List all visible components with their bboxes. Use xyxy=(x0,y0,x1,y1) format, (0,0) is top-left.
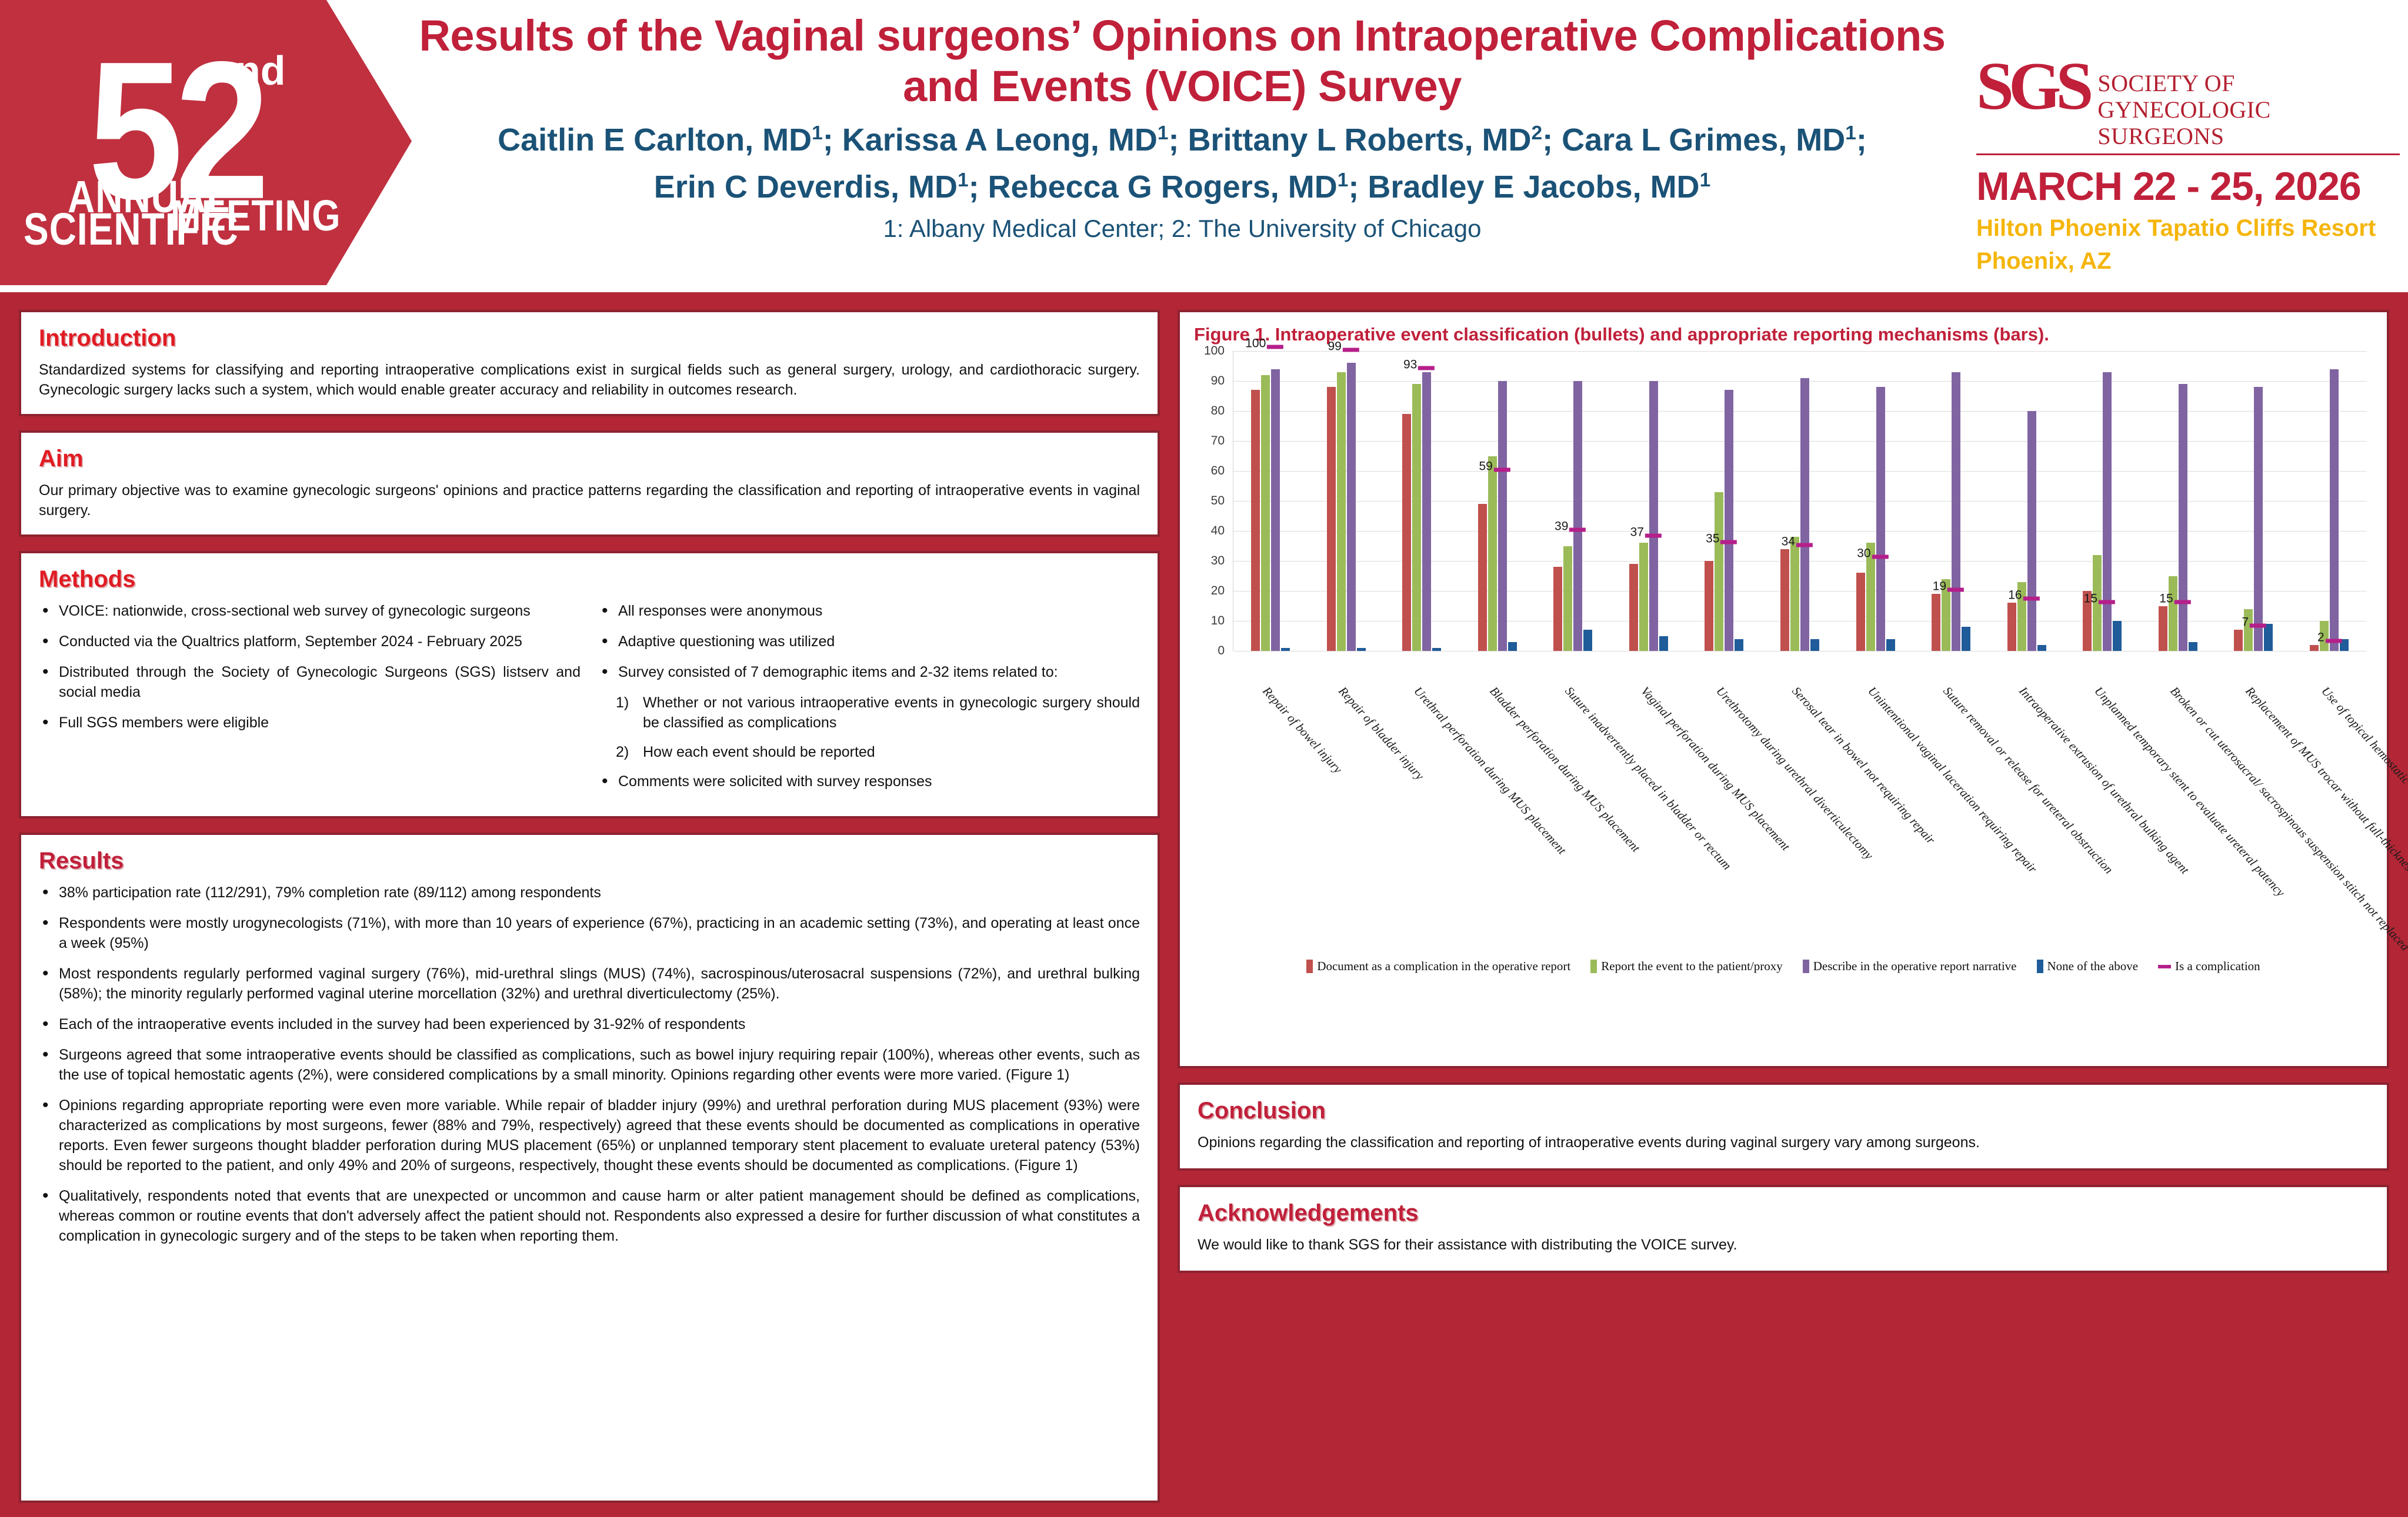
legend-swatch xyxy=(2158,965,2171,968)
list-item: 38% participation rate (112/291), 79% co… xyxy=(39,883,1140,903)
bullet-value-label: 30 xyxy=(1857,547,1870,561)
results-panel: Results 38% participation rate (112/291)… xyxy=(19,833,1160,1503)
x-axis-tick-label: Use of topical hemostatic agents xyxy=(2318,684,2408,813)
conclusion-panel: Conclusion Opinions regarding the classi… xyxy=(1178,1082,2389,1171)
list-item: Comments were solicited with survey resp… xyxy=(598,771,1140,791)
x-axis-tick: Bladder perforation during MUS placement xyxy=(1460,680,1536,957)
sgs-society-name: SOCIETY OF GYNECOLOGIC SURGEONS xyxy=(2097,56,2400,150)
bullet-value-label: 15 xyxy=(2084,592,2097,606)
bar-3 xyxy=(1962,627,1970,651)
legend-label: Describe in the operative report narrati… xyxy=(1813,959,2017,974)
bar-3 xyxy=(2113,621,2122,651)
bar-1 xyxy=(1563,546,1572,651)
bar-groups: 10099935939373534301916151572 xyxy=(1233,351,2367,651)
badge-meeting-text: MEETING xyxy=(171,191,341,241)
bar-group: 2 xyxy=(2291,351,2367,651)
bar-1 xyxy=(2169,576,2177,651)
poster-header: 52 nd ANNUAL SCIENTIFIC MEETING Results … xyxy=(0,0,2408,292)
affiliations: 1: Albany Medical Center; 2: The Univers… xyxy=(412,215,1953,243)
y-axis: 0102030405060708090100 xyxy=(1194,351,1229,651)
sgs-name-line-1: SOCIETY OF xyxy=(2097,70,2400,96)
bar-1 xyxy=(1337,372,1346,651)
bar-2 xyxy=(1649,381,1658,651)
right-column: Figure 1. Intraoperative event classific… xyxy=(1178,310,2389,1287)
aim-panel: Aim Our primary objective was to examine… xyxy=(19,430,1160,537)
bullet-value-label: 2 xyxy=(2317,630,2324,644)
list-item: VOICE: nationwide, cross-sectional web s… xyxy=(39,601,581,621)
list-item: Opinions regarding appropriate reporting… xyxy=(39,1095,1140,1175)
bar-2 xyxy=(1573,381,1582,651)
bullet-marker xyxy=(1645,534,1662,538)
legend-label: Report the event to the patient/proxy xyxy=(1601,959,1783,974)
bar-0 xyxy=(1553,567,1562,651)
x-axis-tick: Intraoperative extrusion of urethral bul… xyxy=(1989,680,2065,957)
legend-label: Document as a complication in the operat… xyxy=(1317,959,1570,974)
figure-1-title: Figure 1. Intraoperative event classific… xyxy=(1194,324,2373,345)
list-item: Adaptive questioning was utilized xyxy=(598,631,1140,651)
bar-3 xyxy=(1432,648,1441,651)
aim-title: Aim xyxy=(39,446,1140,472)
bullet-marker xyxy=(2174,600,2190,604)
y-axis-tick: 30 xyxy=(1211,554,1225,568)
legend-item: Report the event to the patient/proxy xyxy=(1590,959,1783,974)
bullet-marker xyxy=(2099,600,2115,604)
results-title: Results xyxy=(39,848,1140,874)
bullet-value-label: 34 xyxy=(1782,534,1795,549)
x-axis-labels: Repair of bowel injuryRepair of bladder … xyxy=(1233,680,2367,957)
bullet-marker xyxy=(2250,624,2266,628)
y-axis-tick: 100 xyxy=(1204,344,1225,358)
bar-0 xyxy=(2310,645,2319,651)
results-list: 38% participation rate (112/291), 79% co… xyxy=(39,883,1140,1246)
y-axis-tick: 80 xyxy=(1211,404,1225,418)
conclusion-title: Conclusion xyxy=(1198,1098,2369,1124)
acknowledgements-title: Acknowledgements xyxy=(1198,1200,2369,1227)
y-axis-tick: 90 xyxy=(1211,374,1225,388)
bar-0 xyxy=(2007,603,2016,651)
bar-group: 19 xyxy=(1913,351,1989,651)
legend-item: Describe in the operative report narrati… xyxy=(1803,959,2017,974)
conclusion-text: Opinions regarding the classification an… xyxy=(1198,1132,2369,1152)
methods-panel: Methods VOICE: nationwide, cross-section… xyxy=(19,551,1160,818)
bullet-value-label: 15 xyxy=(2159,592,2173,606)
bar-group: 30 xyxy=(1837,351,1913,651)
bar-0 xyxy=(2234,630,2243,651)
bar-group: 34 xyxy=(1762,351,1838,651)
bar-group: 59 xyxy=(1460,351,1536,651)
list-item: Each of the intraoperative events includ… xyxy=(39,1014,1140,1034)
methods-numbered-list: 1) Whether or not various intraoperative… xyxy=(616,693,1140,762)
x-axis-tick: Broken or cut uterosacral/ sacrospinous … xyxy=(2140,680,2216,957)
legend-item: Is a complication xyxy=(2158,959,2260,974)
list-item: Most respondents regularly performed vag… xyxy=(39,964,1140,1004)
methods-right-list-2: Comments were solicited with survey resp… xyxy=(598,771,1140,791)
list-item: Respondents were mostly urogynecologists… xyxy=(39,913,1140,953)
bar-2 xyxy=(2179,384,2187,651)
list-number: 2) xyxy=(616,742,629,762)
chart-plot-area: 0102030405060708090100 10099935939373534… xyxy=(1233,351,2367,680)
legend-swatch xyxy=(1306,960,1313,973)
sgs-logo: SGS xyxy=(1976,56,2088,117)
y-axis-tick: 20 xyxy=(1211,584,1225,598)
bar-1 xyxy=(1488,456,1497,651)
legend-swatch xyxy=(2037,960,2043,973)
bar-group: 7 xyxy=(2216,351,2292,651)
bullet-value-label: 37 xyxy=(1630,526,1644,540)
bar-3 xyxy=(2037,645,2046,651)
bar-3 xyxy=(1810,639,1819,651)
list-item: 1) Whether or not various intraoperative… xyxy=(616,693,1140,733)
bar-3 xyxy=(1508,642,1517,651)
left-column: Introduction Standardized systems for cl… xyxy=(19,310,1160,1517)
list-item: Survey consisted of 7 demographic items … xyxy=(598,662,1140,682)
introduction-text: Standardized systems for classifying and… xyxy=(39,360,1140,400)
bar-2 xyxy=(1498,381,1507,651)
acknowledgements-text: We would like to thank SGS for their ass… xyxy=(1198,1235,2369,1255)
methods-right-list: All responses were anonymous Adaptive qu… xyxy=(598,601,1140,682)
bar-2 xyxy=(1271,369,1280,651)
legend-label: Is a complication xyxy=(2175,959,2260,974)
bar-0 xyxy=(1629,564,1638,651)
y-axis-tick: 60 xyxy=(1211,464,1225,478)
x-axis-tick: Suture removal or release for ureteral o… xyxy=(1913,680,1989,957)
bar-group: 35 xyxy=(1686,351,1762,651)
bullet-value-label: 35 xyxy=(1706,532,1719,546)
list-item-text: How each event should be reported xyxy=(643,744,875,760)
bullet-marker xyxy=(1720,540,1737,544)
y-axis-tick: 10 xyxy=(1211,614,1225,628)
bar-2 xyxy=(2103,372,2112,651)
x-axis-tick: Vaginal perforation during MUS placement xyxy=(1611,680,1687,957)
sgs-branding: SGS SOCIETY OF GYNECOLOGIC SURGEONS MARC… xyxy=(1976,56,2400,275)
gridline xyxy=(1233,651,2367,651)
bar-0 xyxy=(2159,606,2167,651)
meeting-dates: MARCH 22 - 25, 2026 xyxy=(1976,163,2400,209)
methods-left-list: VOICE: nationwide, cross-sectional web s… xyxy=(39,601,581,733)
x-axis-tick: Replacement of MUS trocar without full-t… xyxy=(2216,680,2292,957)
legend-swatch xyxy=(1590,960,1597,973)
page-title: Results of the Vaginal surgeons’ Opinion… xyxy=(412,11,1953,112)
bar-2 xyxy=(1952,372,1960,651)
chart-legend: Document as a complication in the operat… xyxy=(1194,959,2373,974)
list-item: Qualitatively, respondents noted that ev… xyxy=(39,1186,1140,1246)
bar-3 xyxy=(1583,630,1592,651)
bar-2 xyxy=(2254,387,2263,651)
bar-1 xyxy=(1412,384,1421,651)
bar-2 xyxy=(1347,363,1356,651)
bar-2 xyxy=(1725,390,1733,651)
bar-1 xyxy=(1715,492,1723,651)
bar-group: 39 xyxy=(1535,351,1611,651)
x-axis-tick: Unplanned temporary stent to evaluate ur… xyxy=(2065,680,2140,957)
bar-0 xyxy=(1780,549,1789,651)
bar-3 xyxy=(2189,642,2197,651)
list-item: Full SGS members were eligible xyxy=(39,713,581,733)
bullet-value-label: 16 xyxy=(2008,589,2022,603)
bullet-marker xyxy=(1569,528,1586,532)
bar-3 xyxy=(1357,648,1366,651)
introduction-panel: Introduction Standardized systems for cl… xyxy=(19,310,1160,416)
bar-3 xyxy=(1735,639,1743,651)
list-item: All responses were anonymous xyxy=(598,601,1140,621)
bullet-value-label: 59 xyxy=(1479,460,1493,474)
methods-title: Methods xyxy=(39,566,1140,593)
title-block: Results of the Vaginal surgeons’ Opinion… xyxy=(412,11,1953,243)
x-axis-tick: Unintentional vaginal laceration requiri… xyxy=(1837,680,1913,957)
bullet-marker xyxy=(1947,588,1964,592)
bullet-value-label: 39 xyxy=(1555,520,1568,534)
annual-meeting-badge: 52 nd ANNUAL SCIENTIFIC MEETING xyxy=(0,0,412,285)
bullet-marker xyxy=(1796,543,1813,547)
bullet-marker xyxy=(1343,348,1359,352)
bar-3 xyxy=(2264,624,2273,651)
sgs-name-line-2: GYNECOLOGIC SURGEONS xyxy=(2097,96,2400,149)
y-axis-tick: 50 xyxy=(1211,494,1225,508)
x-axis-tick: Use of topical hemostatic agents xyxy=(2291,680,2367,957)
bar-0 xyxy=(1327,387,1336,651)
bar-3 xyxy=(1659,636,1668,651)
bar-0 xyxy=(1478,504,1487,651)
bar-1 xyxy=(1790,537,1799,651)
bar-group: 37 xyxy=(1611,351,1687,651)
x-axis-tick: Repair of bladder injury xyxy=(1309,680,1385,957)
introduction-title: Introduction xyxy=(39,325,1140,352)
y-axis-tick: 0 xyxy=(1218,644,1225,658)
divider xyxy=(1976,153,2400,155)
bullet-value-label: 99 xyxy=(1328,340,1341,354)
bar-2 xyxy=(2027,411,2036,651)
venue-city: Phoenix, AZ xyxy=(1976,247,2400,275)
bullet-marker xyxy=(1267,345,1283,349)
author-list-line-1: Caitlin E Carlton, MD1; Karissa A Leong,… xyxy=(412,121,1953,159)
list-item: 2) How each event should be reported xyxy=(616,742,1140,762)
bullet-value-label: 100 xyxy=(1245,337,1266,351)
bar-group: 15 xyxy=(2140,351,2216,651)
acknowledgements-panel: Acknowledgements We would like to thank … xyxy=(1178,1185,2389,1273)
bar-2 xyxy=(1800,378,1809,651)
bar-3 xyxy=(1281,648,1290,651)
bar-0 xyxy=(1402,414,1411,651)
aim-text: Our primary objective was to examine gyn… xyxy=(39,480,1140,520)
bar-2 xyxy=(2330,369,2339,651)
bar-group: 100 xyxy=(1233,351,1309,651)
list-item: Distributed through the Society of Gynec… xyxy=(39,662,581,702)
bar-group: 93 xyxy=(1384,351,1460,651)
x-axis-tick: Urethral perforation during MUS placemen… xyxy=(1384,680,1460,957)
bullet-marker xyxy=(1872,555,1888,559)
x-axis-tick: Urethrotomy during urethral diverticulec… xyxy=(1686,680,1762,957)
bar-group: 16 xyxy=(1989,351,2065,651)
bar-0 xyxy=(1251,390,1260,651)
list-item: Surgeons agreed that some intraoperative… xyxy=(39,1045,1140,1085)
legend-swatch xyxy=(1803,960,1809,973)
bullet-value-label: 93 xyxy=(1403,357,1417,372)
bar-0 xyxy=(1856,573,1865,651)
bullet-marker xyxy=(2326,639,2342,643)
y-axis-tick: 40 xyxy=(1211,524,1225,538)
legend-item: Document as a complication in the operat… xyxy=(1306,959,1570,974)
venue-name: Hilton Phoenix Tapatio Cliffs Resort xyxy=(1976,214,2400,242)
y-axis-tick: 70 xyxy=(1211,434,1225,448)
badge-ordinal: nd xyxy=(235,47,286,94)
bar-2 xyxy=(1422,372,1431,651)
bar-group: 99 xyxy=(1309,351,1385,651)
bar-0 xyxy=(1705,561,1713,651)
bar-1 xyxy=(1639,543,1648,651)
legend-item: None of the above xyxy=(2037,959,2139,974)
bar-3 xyxy=(1886,639,1895,651)
legend-label: None of the above xyxy=(2047,959,2139,974)
list-item-text: Whether or not various intraoperative ev… xyxy=(643,694,1140,731)
bar-group: 15 xyxy=(2065,351,2140,651)
bullet-marker xyxy=(2023,597,2039,601)
figure-1-panel: Figure 1. Intraoperative event classific… xyxy=(1178,310,2389,1068)
x-axis-tick: Serosal tear in bowel not requiring repa… xyxy=(1762,680,1838,957)
bullet-value-label: 19 xyxy=(1933,580,1946,594)
list-number: 1) xyxy=(616,693,629,713)
bullet-marker xyxy=(1494,468,1510,472)
bar-2 xyxy=(1876,387,1885,651)
author-list-line-2: Erin C Deverdis, MD1; Rebecca G Rogers, … xyxy=(412,168,1953,206)
list-item: Conducted via the Qualtrics platform, Se… xyxy=(39,631,581,651)
x-axis-tick: Suture inadvertently placed in bladder o… xyxy=(1535,680,1611,957)
x-axis-tick: Repair of bowel injury xyxy=(1233,680,1309,957)
bullet-value-label: 7 xyxy=(2242,616,2249,630)
bar-1 xyxy=(1261,375,1270,651)
bullet-marker xyxy=(1418,366,1435,370)
bar-0 xyxy=(1932,594,1940,651)
